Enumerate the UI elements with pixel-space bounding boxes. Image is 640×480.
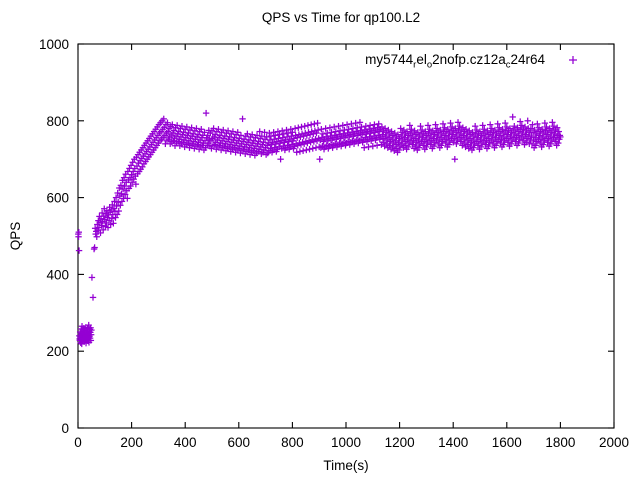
x-tick-label: 1200 [385,435,415,450]
chart-canvas: QPS vs Time for qp100.L2 020040060080010… [0,0,640,480]
x-tick-label: 800 [281,435,304,450]
y-tick-label: 1000 [39,37,69,52]
y-tick-label: 200 [46,344,69,359]
chart-background [0,0,640,480]
x-tick-label: 2000 [599,435,629,450]
y-tick-label: 400 [46,267,69,282]
x-tick-label: 600 [228,435,251,450]
x-tick-label: 400 [174,435,197,450]
x-axis-label: Time(s) [323,458,368,473]
chart-title: QPS vs Time for qp100.L2 [262,10,420,25]
y-tick-label: 0 [61,421,69,436]
x-tick-label: 1600 [492,435,522,450]
x-tick-label: 1400 [438,435,468,450]
qps-chart: QPS vs Time for qp100.L2 020040060080010… [0,0,640,480]
y-tick-label: 800 [46,114,69,129]
x-tick-label: 1000 [331,435,361,450]
x-tick-label: 1800 [545,435,575,450]
x-tick-label: 0 [74,435,82,450]
x-tick-label: 200 [120,435,143,450]
y-tick-label: 600 [46,191,69,206]
y-axis-label: QPS [8,222,23,251]
